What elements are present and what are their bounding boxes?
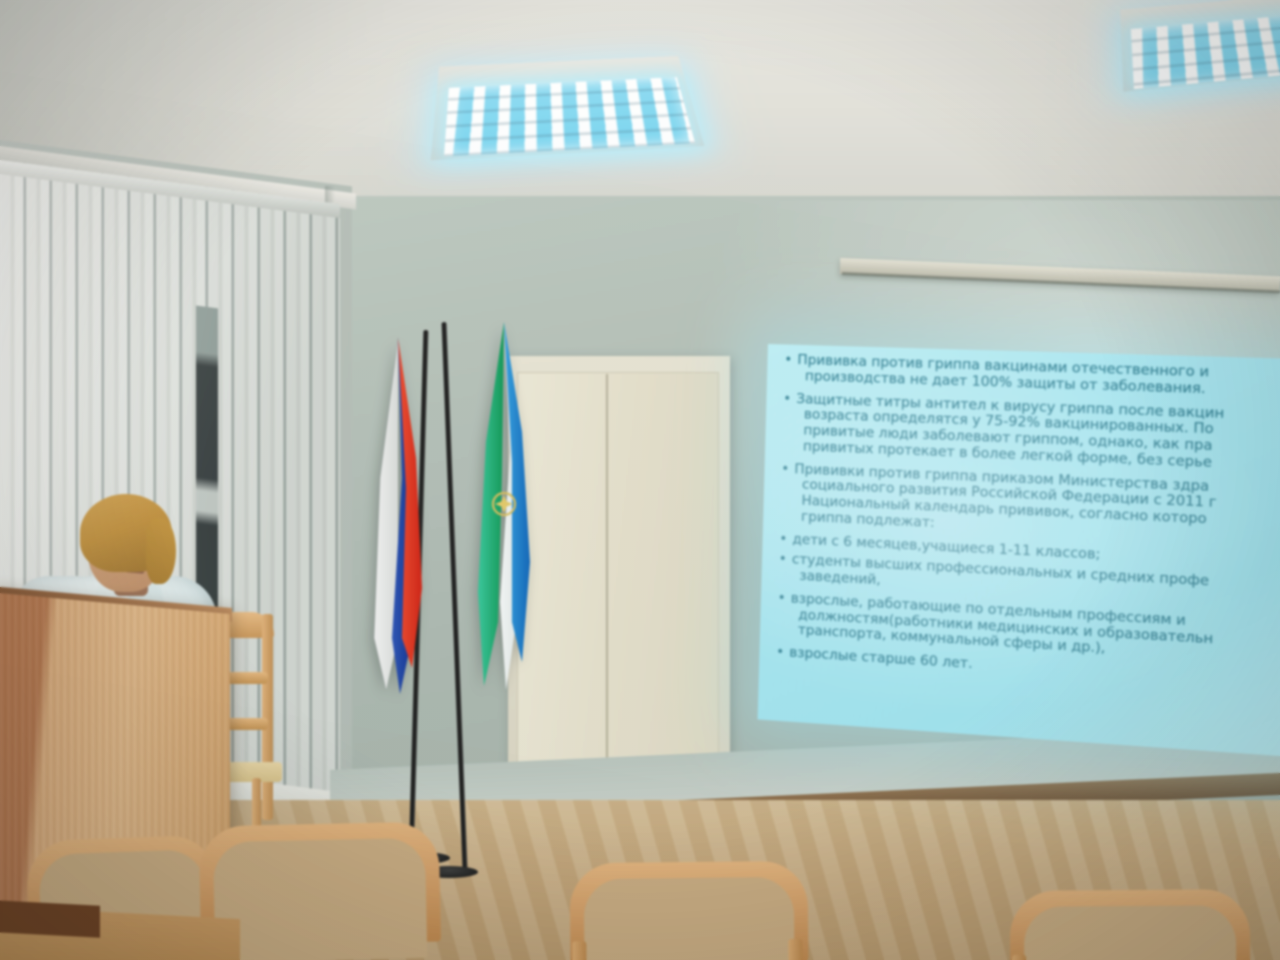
slide-bullet-list: Прививка против гриппа вакцинами отечест… <box>773 352 1280 707</box>
flag-russia <box>372 338 426 698</box>
light-glow <box>444 77 695 156</box>
chair-leg <box>1012 955 1026 960</box>
ceiling-light-center <box>431 56 705 160</box>
flag-bashkortostan <box>474 322 532 694</box>
foreground-table-shadow <box>0 900 100 938</box>
chair-leg <box>788 939 803 960</box>
speaker-hair-side <box>146 518 176 584</box>
chair-back-opening <box>1024 905 1237 960</box>
ceiling-light-right <box>1120 0 1280 92</box>
bashkortostan-emblem <box>493 493 515 515</box>
chair-back-opening <box>584 877 795 960</box>
projection-screen: Прививка против гриппа вакцинами отечест… <box>758 344 1280 758</box>
chair-foreground-2[interactable] <box>569 861 808 960</box>
presentation-room-photo: Прививка против гриппа вакцинами отечест… <box>0 0 1280 960</box>
light-louver-grid <box>444 77 695 156</box>
chair-post <box>262 614 273 820</box>
chair-foreground-3[interactable] <box>1010 889 1251 960</box>
chair-leg <box>572 941 587 960</box>
chair-back-opening <box>213 838 427 960</box>
